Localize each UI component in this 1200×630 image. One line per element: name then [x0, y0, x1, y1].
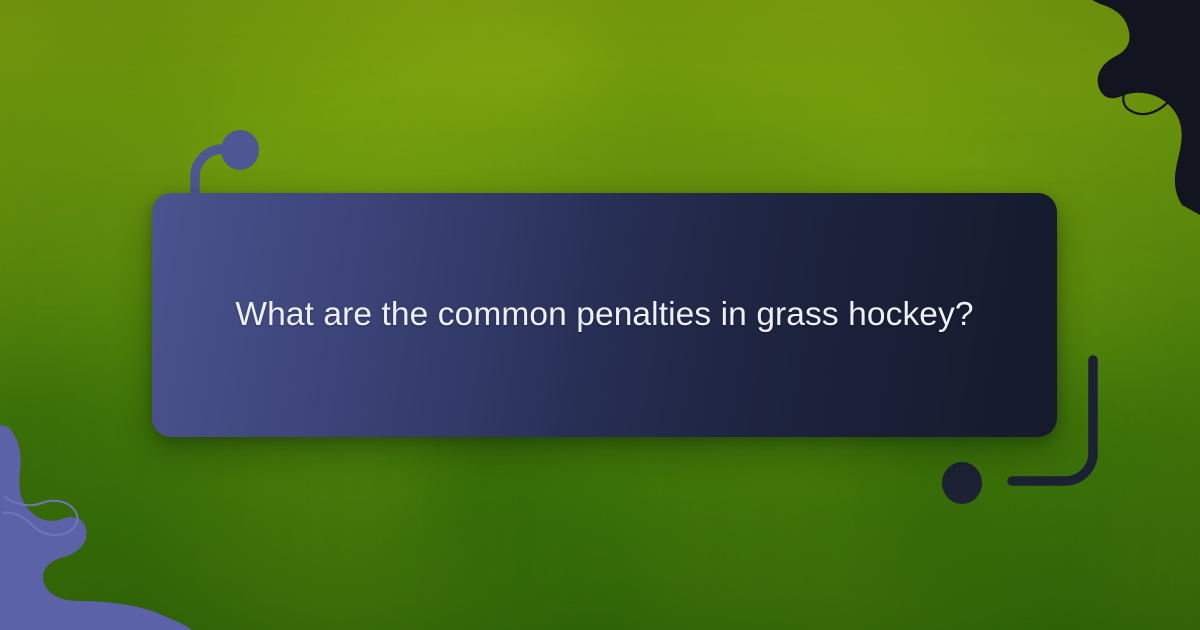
decoration-blob-top-right: [1000, 0, 1200, 215]
circle-dot-icon: [942, 462, 982, 504]
circle-dot-icon: [221, 130, 259, 170]
question-card-graphic: What are the common penalties in grass h…: [0, 0, 1200, 630]
question-text: What are the common penalties in grass h…: [222, 287, 987, 343]
decoration-blob-bottom-left: [0, 425, 215, 630]
question-card: What are the common penalties in grass h…: [152, 193, 1057, 437]
